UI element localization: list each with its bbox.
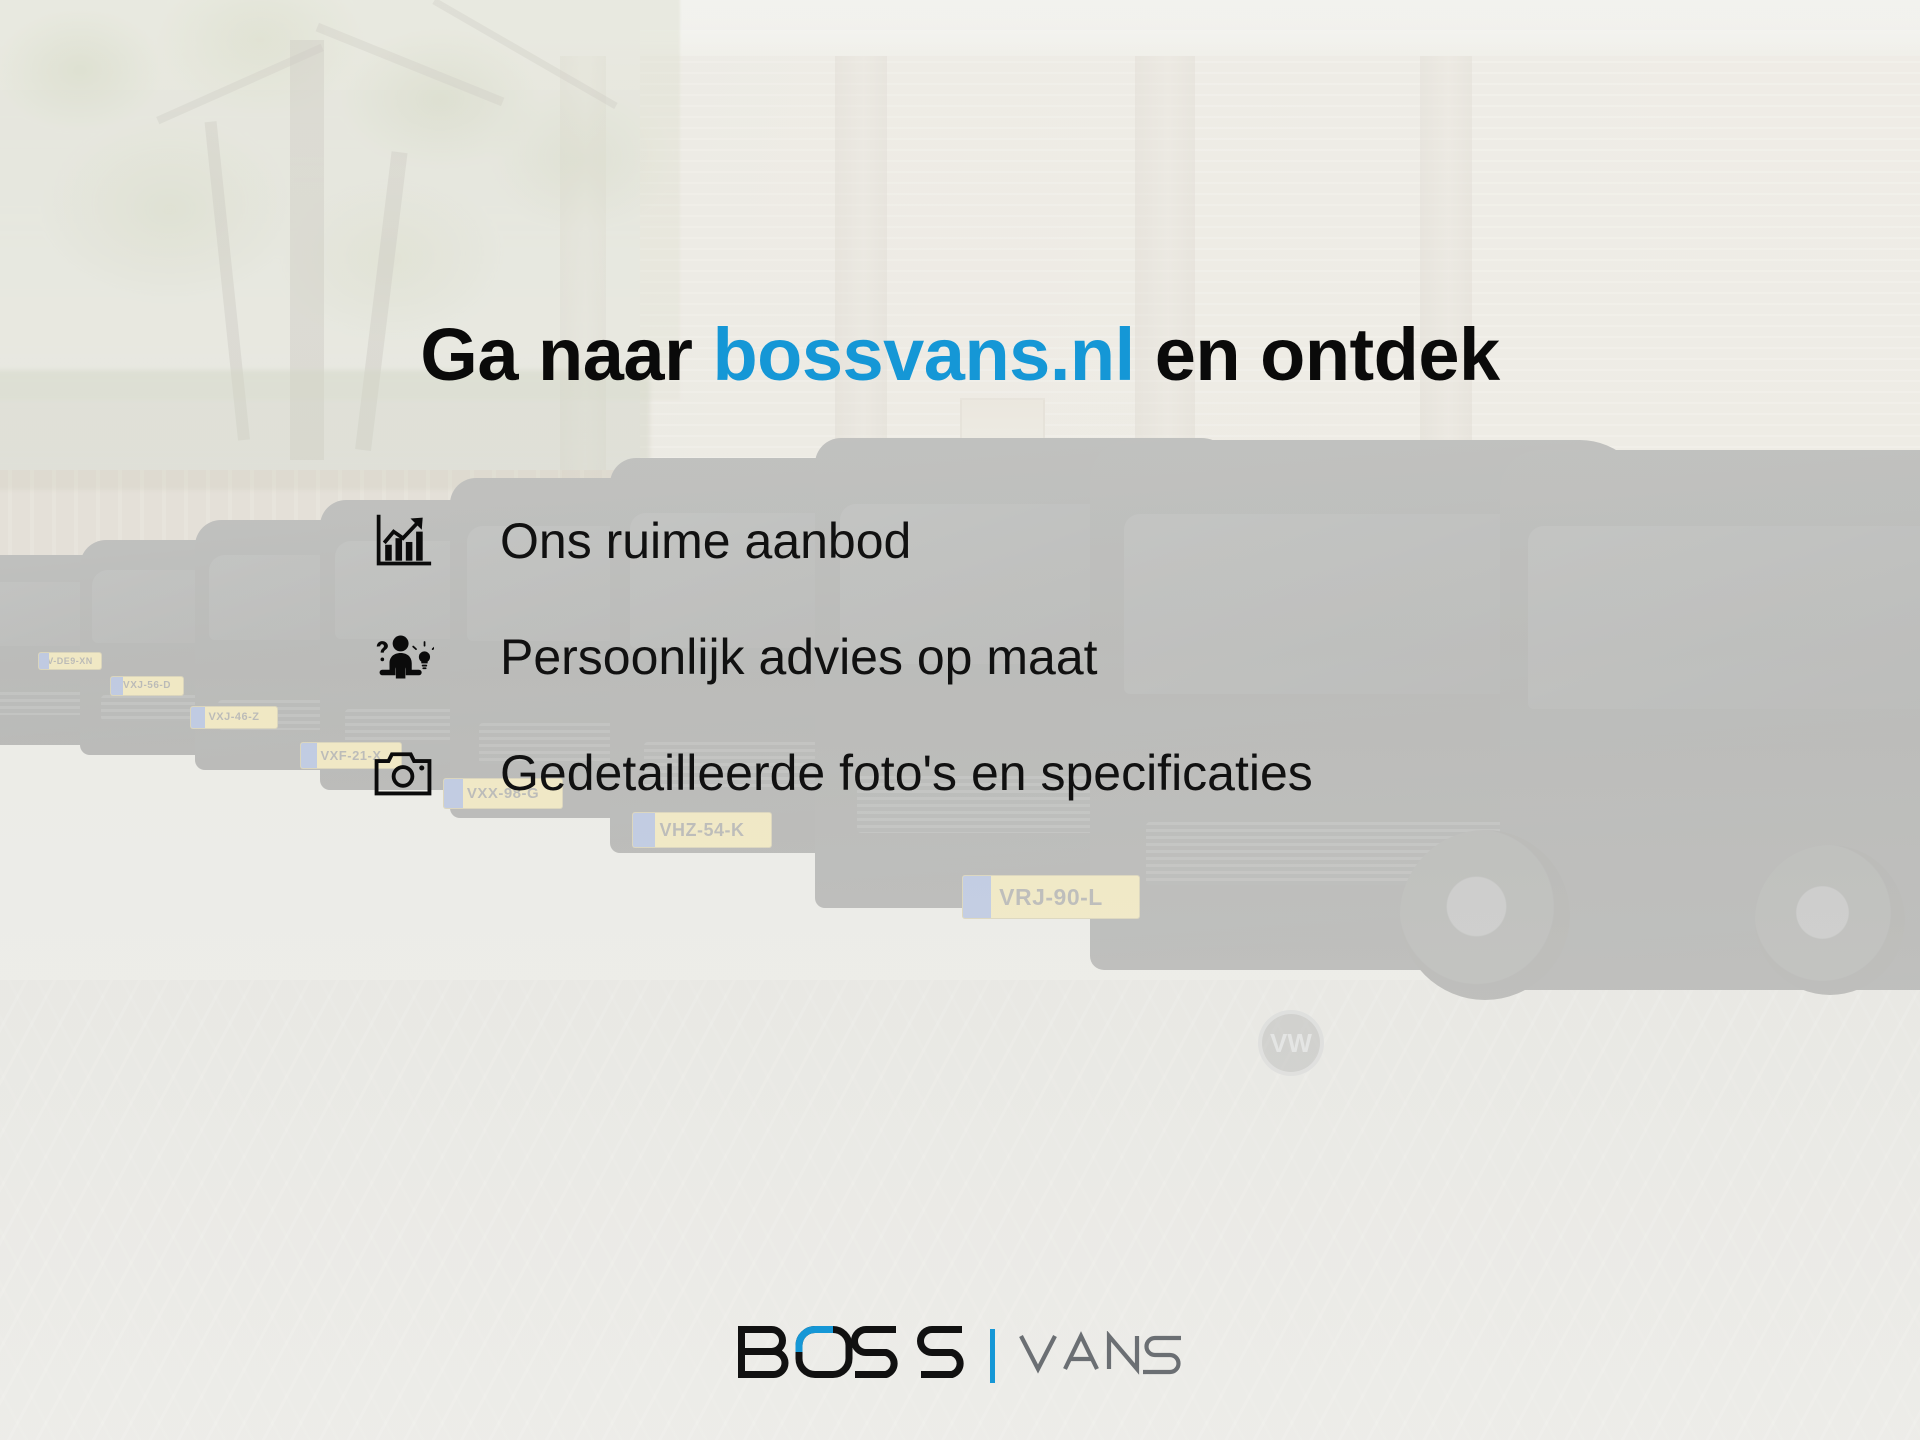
- logo-divider: [990, 1329, 995, 1383]
- slide-root: V-DE9-XN VXJ-56-D VXJ-46-Z VXF-21-X VXX-…: [0, 0, 1920, 1440]
- headline-after: en ontdek: [1135, 313, 1500, 396]
- personal-advice-icon: [372, 626, 434, 688]
- list-item: Persoonlijk advies op maat: [372, 626, 1920, 688]
- headline-before: Ga naar: [420, 313, 712, 396]
- headline-accent-domain: bossvans.nl: [712, 313, 1134, 396]
- vans-wordmark: [1017, 1331, 1185, 1380]
- page-title: Ga naar bossvans.nl en ontdek: [0, 318, 1920, 392]
- camera-icon: [372, 742, 434, 804]
- slide-content: Ga naar bossvans.nl en ontdek: [0, 0, 1920, 1440]
- feature-list: Ons ruime aanbod: [372, 510, 1920, 804]
- boss-wordmark: [736, 1323, 968, 1388]
- list-item-label: Persoonlijk advies op maat: [500, 632, 1098, 682]
- brand-logo: [0, 1323, 1920, 1388]
- growth-chart-icon: [372, 510, 434, 572]
- list-item: Ons ruime aanbod: [372, 510, 1920, 572]
- list-item: Gedetailleerde foto's en specificaties: [372, 742, 1920, 804]
- list-item-label: Gedetailleerde foto's en specificaties: [500, 748, 1313, 798]
- list-item-label: Ons ruime aanbod: [500, 516, 911, 566]
